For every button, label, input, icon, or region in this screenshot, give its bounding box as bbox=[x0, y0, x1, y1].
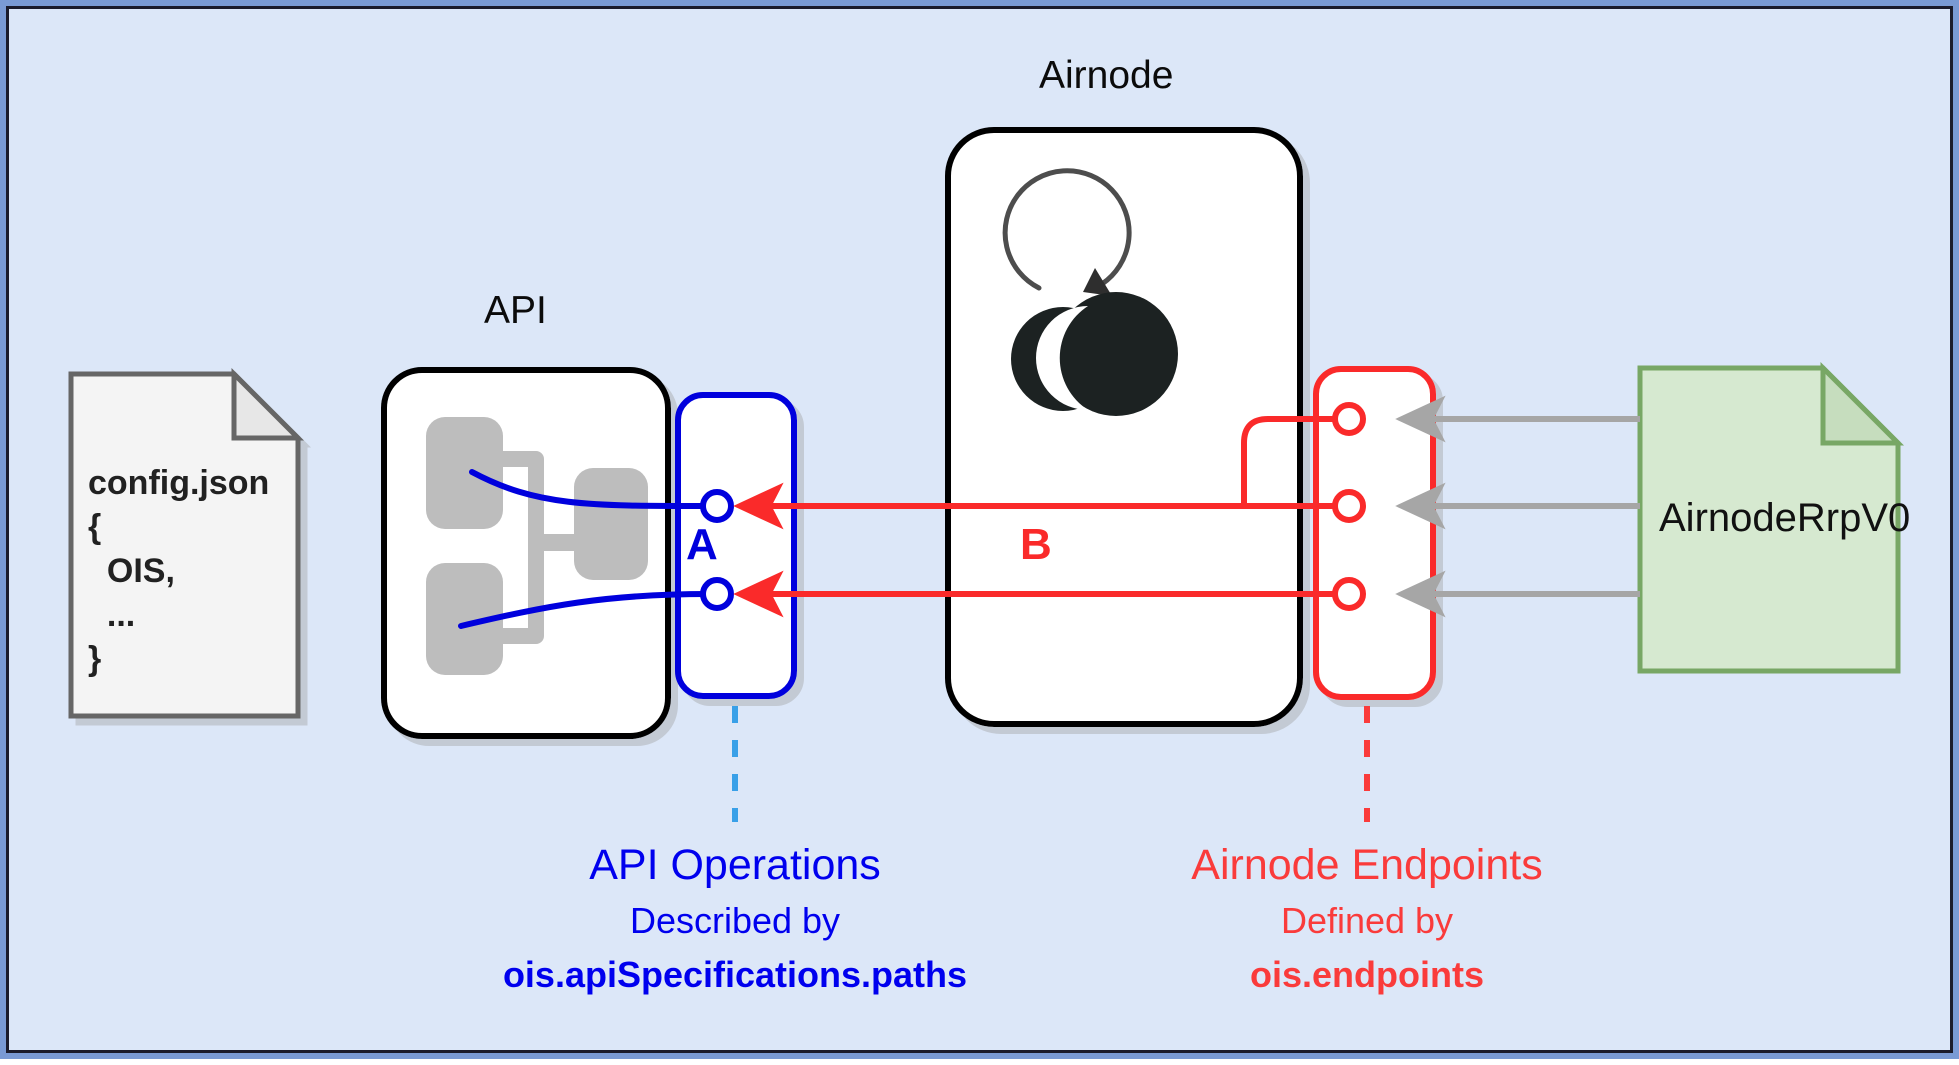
airnode-endpoints-group-label: B bbox=[1020, 520, 1052, 570]
api-operations-caption: API Operations Described by ois.apiSpeci… bbox=[503, 841, 967, 996]
airnode-endpoints-caption-code: ois.endpoints bbox=[1191, 954, 1542, 996]
api-operations-caption-heading: API Operations bbox=[503, 841, 967, 890]
airnode-endpoints-caption-heading: Airnode Endpoints bbox=[1191, 841, 1542, 890]
api-title: API bbox=[484, 289, 547, 333]
api-operations-group-label: A bbox=[686, 520, 718, 570]
airnode-rrp-label: AirnodeRrpV0 bbox=[1659, 496, 1910, 541]
config-json-text: config.json { OIS, ... } bbox=[88, 461, 269, 681]
airnode-endpoints-caption: Airnode Endpoints Defined by ois.endpoin… bbox=[1191, 841, 1542, 996]
airnode-endpoint-port-3 bbox=[1335, 580, 1363, 608]
api-operation-port-1 bbox=[703, 492, 731, 520]
gray-rrp-links bbox=[1406, 419, 1640, 594]
config-json-line-2: OIS, bbox=[88, 549, 269, 593]
diagram-canvas: config.json { OIS, ... } API Airnode Air… bbox=[0, 0, 1959, 1059]
config-json-line-1: { bbox=[88, 505, 269, 549]
api-operation-port-2 bbox=[703, 580, 731, 608]
config-json-line-4: } bbox=[88, 637, 269, 681]
config-json-line-0: config.json bbox=[88, 461, 269, 505]
airnode-endpoint-port-1 bbox=[1335, 405, 1363, 433]
api-operations-caption-code: ois.apiSpecifications.paths bbox=[503, 954, 967, 996]
api-operations-caption-subtitle: Described by bbox=[503, 900, 967, 942]
airnode-endpoints-caption-subtitle: Defined by bbox=[1191, 900, 1542, 942]
config-json-line-3: ... bbox=[88, 593, 269, 637]
airnode-endpoint-port-2 bbox=[1335, 492, 1363, 520]
airnode-title: Airnode bbox=[1039, 54, 1173, 98]
